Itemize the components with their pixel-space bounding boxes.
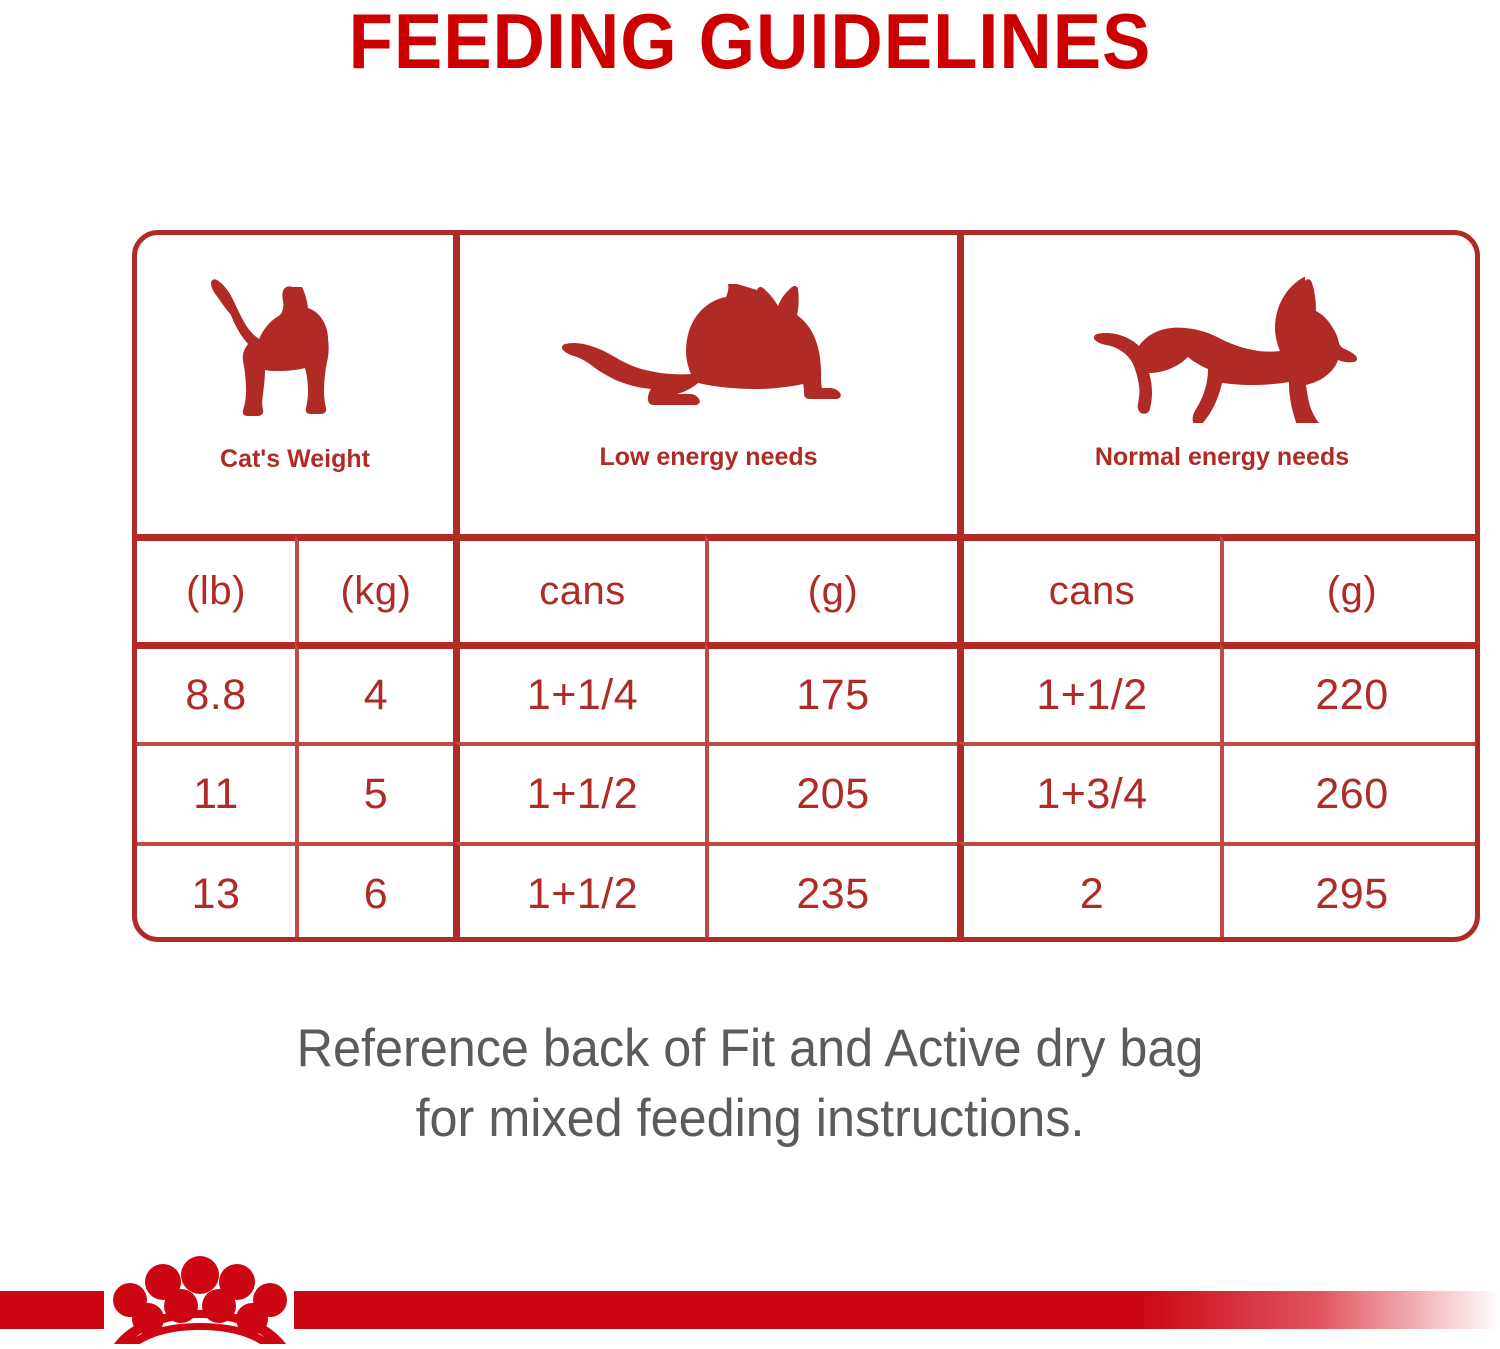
footer-note-line-1: Reference back of Fit and Active dry bag [38, 1014, 1463, 1084]
group-header-label: Normal energy needs [1095, 443, 1349, 534]
column-header-normal-grams: (g) [1220, 534, 1480, 642]
column-header-normal-cans: cans [957, 534, 1220, 642]
table-cell: 175 [705, 642, 957, 742]
footer-note-line-2: for mixed feeding instructions. [38, 1084, 1463, 1154]
feeding-guidelines-table: Cat's Weight Low energy needs Normal ene… [132, 230, 1480, 942]
table-cell: 2 [957, 842, 1220, 942]
group-header-low-energy: Low energy needs [453, 235, 957, 534]
table-cell: 1+1/2 [453, 742, 705, 842]
cat-standing-icon [137, 257, 453, 445]
table-cell: 8.8 [137, 642, 295, 742]
group-header-label: Cat's Weight [220, 445, 370, 534]
table-cell: 11 [137, 742, 295, 842]
table-cell: 1+1/4 [453, 642, 705, 742]
table-cell: 235 [705, 842, 957, 942]
group-header-normal-energy: Normal energy needs [957, 235, 1480, 534]
table-cell: 4 [295, 642, 453, 742]
column-header-low-cans: cans [453, 534, 705, 642]
column-header-lb: (lb) [137, 534, 295, 642]
table-cell: 1+3/4 [957, 742, 1220, 842]
page-title: FEEDING GUIDELINES [53, 2, 1448, 80]
royal-canin-crown-logo [104, 1248, 296, 1344]
column-header-kg: (kg) [295, 534, 453, 642]
table-cell: 295 [1220, 842, 1480, 942]
table-cell: 1+1/2 [453, 842, 705, 942]
column-header-low-grams: (g) [705, 534, 957, 642]
cat-walking-icon [964, 257, 1480, 443]
table-cell: 220 [1220, 642, 1480, 742]
table-cell: 5 [295, 742, 453, 842]
table-cell: 205 [705, 742, 957, 842]
table-cell: 260 [1220, 742, 1480, 842]
group-header-cats-weight: Cat's Weight [137, 235, 453, 534]
table-cell: 6 [295, 842, 453, 942]
cat-lying-icon [460, 257, 957, 443]
table-cell: 1+1/2 [957, 642, 1220, 742]
table-cell: 13 [137, 842, 295, 942]
footer-note: Reference back of Fit and Active dry bag… [38, 1014, 1463, 1154]
group-header-label: Low energy needs [599, 443, 817, 534]
